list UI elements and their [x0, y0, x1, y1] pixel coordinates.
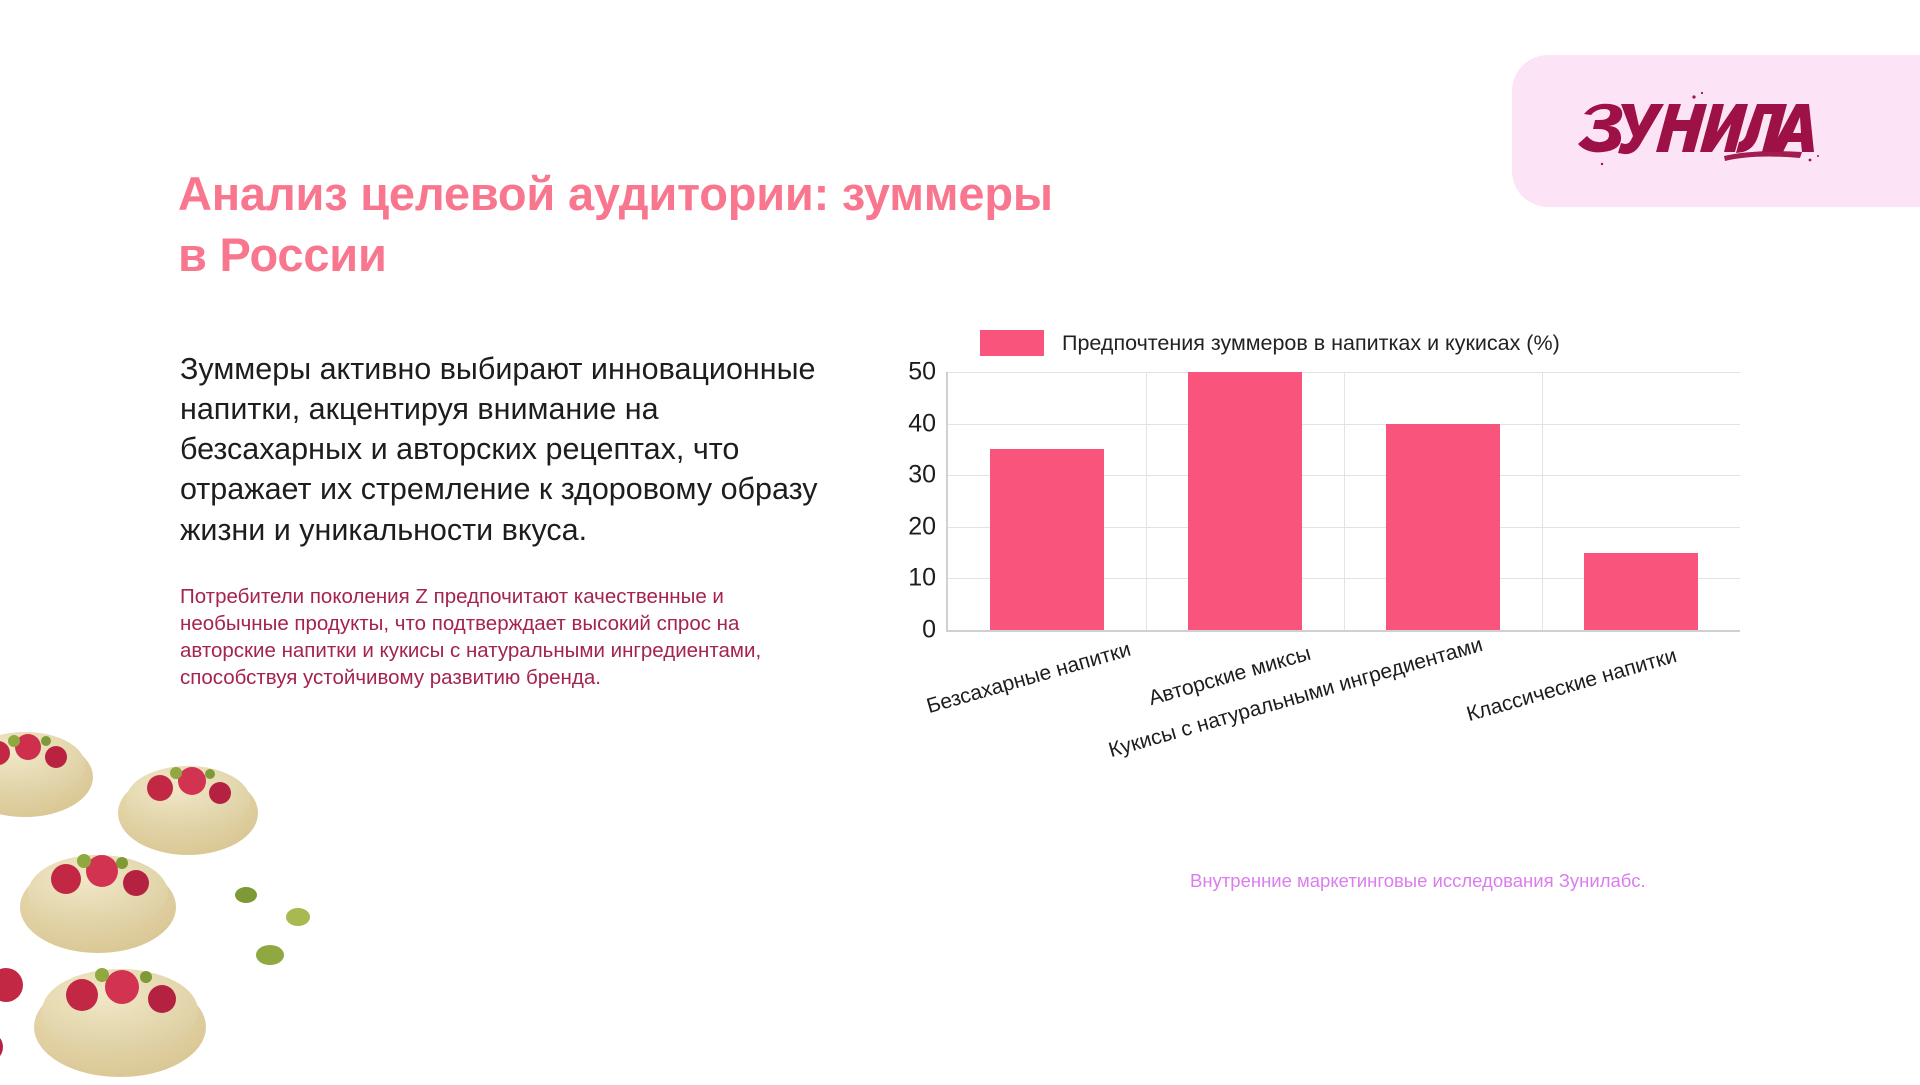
chart-legend: Предпочтения зуммеров в напитках и кукис…	[980, 330, 1560, 356]
bar-slot-3	[1344, 372, 1542, 630]
source-footnote: Внутренние маркетинговые исследования Зу…	[1190, 870, 1646, 892]
bar-slot-2	[1146, 372, 1344, 630]
page-title-line-2: в России	[178, 225, 1058, 285]
x-tick-label-1: Безсахарные напитки	[924, 638, 1134, 719]
y-tick-0: 0	[922, 616, 936, 645]
x-axis-tick-labels: Безсахарные напитки Авторские миксы Куки…	[946, 678, 1740, 808]
bar-chart: Предпочтения зуммеров в напитках и кукис…	[880, 330, 1740, 750]
legend-swatch-icon	[980, 330, 1044, 356]
page-title: Анализ целевой аудитории: зуммеры в Росс…	[178, 164, 1058, 284]
y-tick-20: 20	[908, 512, 936, 541]
y-tick-40: 40	[908, 409, 936, 438]
brand-logo	[1574, 86, 1824, 176]
page-title-line-1: Анализ целевой аудитории: зуммеры	[178, 164, 1058, 224]
x-tick-label-4: Классические напитки	[1464, 644, 1680, 727]
y-tick-50: 50	[908, 358, 936, 387]
bar-slot-4	[1542, 372, 1740, 630]
bar-klassicheskie-napitki[interactable]	[1584, 553, 1699, 630]
bar-besakharnye-napitki[interactable]	[990, 449, 1105, 630]
lead-paragraph: Зуммеры активно выбирают инновационные н…	[180, 349, 820, 550]
brand-logo-panel	[1512, 55, 1920, 207]
chart-bars	[948, 372, 1740, 630]
chart-grid	[946, 372, 1740, 632]
cookies-decorative-image	[0, 655, 400, 1080]
zunilabs-wordmark-icon	[1574, 86, 1824, 176]
y-axis-tick-labels: 50 40 30 20 10 0	[880, 372, 946, 630]
y-tick-30: 30	[908, 461, 936, 490]
bar-avtorskie-miksy[interactable]	[1188, 372, 1303, 630]
legend-label: Предпочтения зуммеров в напитках и кукис…	[1062, 331, 1560, 356]
bar-kukisy-s-naturalnymi-ingredientami[interactable]	[1386, 424, 1501, 630]
chart-plot-area: 50 40 30 20 10 0	[880, 372, 1740, 630]
y-tick-10: 10	[908, 564, 936, 593]
bar-slot-1	[948, 372, 1146, 630]
